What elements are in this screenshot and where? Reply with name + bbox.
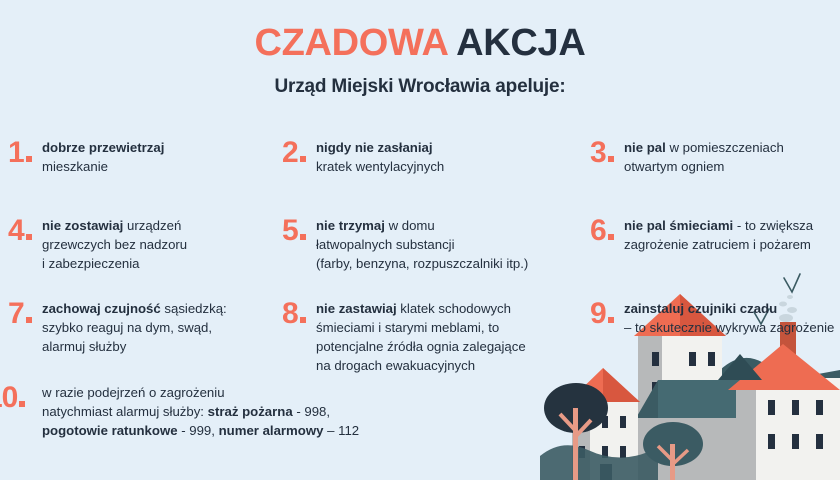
tip-line: pogotowie ratunkowe - 999, numer alarmow…	[42, 421, 359, 440]
tip-number-5: 5	[282, 216, 316, 246]
tip-plain: klatek schodowych	[397, 301, 511, 316]
tip-text-7: zachowaj czujność sąsiedzką:szybko reagu…	[42, 299, 227, 356]
tip-number-2: 2	[282, 138, 316, 168]
tip-item-7: 7 zachowaj czujność sąsiedzką:szybko rea…	[8, 299, 278, 356]
tree-shape	[643, 422, 703, 480]
tip-line: (farby, benzyna, rozpuszczalniki itp.)	[316, 254, 528, 273]
tip-line: szybko reaguj na dym, swąd,	[42, 318, 227, 337]
tip-line: natychmiast alarmuj służby: straż pożarn…	[42, 402, 359, 421]
tip-line: na drogach ewakuacyjnych	[316, 356, 526, 375]
tip-plain: natychmiast alarmuj służby:	[42, 404, 208, 419]
bird-icon	[784, 274, 800, 292]
tip-emphasis: nie zastawiaj	[316, 301, 397, 316]
title-rest-word: AKCJA	[447, 22, 585, 64]
house-shape	[636, 380, 740, 480]
tip-plain: grzewczych bez nadzoru	[42, 237, 187, 252]
tip-plain: kratek wentylacyjnych	[316, 159, 444, 174]
tip-item-8: 8 nie zastawiaj klatek schodowychśmiecia…	[282, 299, 582, 376]
tip-plain: urządzeń	[123, 218, 181, 233]
tip-plain: - 998,	[293, 404, 330, 419]
tip-text-10: w razie podejrzeń o zagrożeniunatychmias…	[42, 383, 359, 440]
tip-plain: – to skutecznie wykrywa zagrożenie	[624, 320, 834, 335]
tip-line: łatwopalnych substancji	[316, 235, 528, 254]
tip-line: w razie podejrzeń o zagrożeniu	[42, 383, 359, 402]
tip-text-9: zainstaluj czujniki czadu– to skutecznie…	[624, 299, 834, 337]
tip-emphasis: dobrze przewietrzaj	[42, 140, 164, 155]
poster-header: CZADOWA AKCJA Urząd Miejski Wrocławia ap…	[0, 0, 840, 98]
tip-line: otwartym ogniem	[624, 157, 784, 176]
tip-plain: zagrożenie zatruciem i pożarem	[624, 237, 811, 252]
tip-plain: alarmuj służby	[42, 339, 126, 354]
tip-emphasis: nie pal śmieciami	[624, 218, 733, 233]
tip-emphasis: pogotowie ratunkowe	[42, 423, 178, 438]
tip-text-1: dobrze przewietrzajmieszkanie	[42, 138, 164, 176]
tip-number-dot	[26, 156, 32, 162]
page-title: CZADOWA AKCJA	[0, 0, 840, 64]
tip-line: nie pal w pomieszczeniach	[624, 138, 784, 157]
tip-line: zachowaj czujność sąsiedzką:	[42, 299, 227, 318]
tip-plain: w pomieszczeniach	[666, 140, 784, 155]
tip-plain: - 999,	[178, 423, 219, 438]
tip-emphasis: straż pożarna	[208, 404, 293, 419]
tip-plain: sąsiedzką:	[161, 301, 227, 316]
tip-text-5: nie trzymaj w domułatwopalnych substancj…	[316, 216, 528, 273]
tip-line: kratek wentylacyjnych	[316, 157, 444, 176]
house-shape	[728, 322, 840, 480]
tip-emphasis: nie trzymaj	[316, 218, 385, 233]
tip-item-4: 4 nie zostawiaj urządzeńgrzewczych bez n…	[8, 216, 278, 273]
tip-number-dot	[608, 317, 614, 323]
tip-number-4: 4	[8, 216, 42, 246]
tip-text-2: nigdy nie zasłaniajkratek wentylacyjnych	[316, 138, 444, 176]
tip-plain: – 112	[323, 423, 359, 438]
tree-shape	[544, 383, 608, 480]
tip-emphasis: nigdy nie zasłaniaj	[316, 140, 433, 155]
tip-text-8: nie zastawiaj klatek schodowychśmieciami…	[316, 299, 526, 376]
tip-text-4: nie zostawiaj urządzeńgrzewczych bez nad…	[42, 216, 187, 273]
tip-emphasis: nie zostawiaj	[42, 218, 123, 233]
tip-line: zainstaluj czujniki czadu	[624, 299, 834, 318]
tip-number-dot	[19, 401, 25, 407]
hill-shape	[540, 445, 658, 480]
tip-item-1: 1 dobrze przewietrzajmieszkanie	[8, 138, 278, 176]
tip-number-dot	[26, 317, 32, 323]
tip-plain: łatwopalnych substancji	[316, 237, 455, 252]
tip-item-2: 2 nigdy nie zasłaniajkratek wentylacyjny…	[282, 138, 582, 176]
house-shape	[568, 368, 640, 480]
tip-text-6: nie pal śmieciami - to zwiększazagrożeni…	[624, 216, 813, 254]
tip-emphasis: zainstaluj czujniki czadu	[624, 301, 777, 316]
tip-number-dot	[300, 234, 306, 240]
tip-plain: szybko reaguj na dym, swąd,	[42, 320, 212, 335]
tip-number-9: 9	[590, 299, 624, 329]
tip-plain: w razie podejrzeń o zagrożeniu	[42, 385, 225, 400]
infographic-poster: CZADOWA AKCJA Urząd Miejski Wrocławia ap…	[0, 0, 840, 480]
tip-plain: potencjalne źródła ognia zalegające	[316, 339, 526, 354]
tip-item-5: 5 nie trzymaj w domułatwopalnych substan…	[282, 216, 582, 273]
tip-plain: otwartym ogniem	[624, 159, 724, 174]
tip-line: grzewczych bez nadzoru	[42, 235, 187, 254]
tip-line: nie trzymaj w domu	[316, 216, 528, 235]
tip-number-8: 8	[282, 299, 316, 329]
tip-item-6: 6 nie pal śmieciami - to zwiększazagroże…	[590, 216, 840, 254]
tip-item-3: 3 nie pal w pomieszczeniachotwartym ogni…	[590, 138, 840, 176]
tip-plain: w domu	[385, 218, 435, 233]
tip-number-6: 6	[590, 216, 624, 246]
tip-number-1: 1	[8, 138, 42, 168]
bird-icon	[716, 455, 731, 469]
tip-plain: (farby, benzyna, rozpuszczalniki itp.)	[316, 256, 528, 271]
page-subtitle: Urząd Miejski Wrocławia apeluje:	[0, 64, 840, 98]
tip-number-dot	[26, 234, 32, 240]
tip-line: alarmuj służby	[42, 337, 227, 356]
tip-emphasis: zachowaj czujność	[42, 301, 161, 316]
tip-number-dot	[608, 234, 614, 240]
tip-line: nie pal śmieciami - to zwiększa	[624, 216, 813, 235]
tip-item-10: 10 w razie podejrzeń o zagrożeniunatychm…	[0, 383, 416, 440]
tip-number-dot	[608, 156, 614, 162]
tip-text-3: nie pal w pomieszczeniachotwartym ogniem	[624, 138, 784, 176]
tip-number-7: 7	[8, 299, 42, 329]
tip-plain: na drogach ewakuacyjnych	[316, 358, 475, 373]
town-illustration	[540, 260, 840, 480]
house-shape	[718, 354, 762, 380]
tip-line: nie zastawiaj klatek schodowych	[316, 299, 526, 318]
tip-line: dobrze przewietrzaj	[42, 138, 164, 157]
title-accent-word: CZADOWA	[254, 22, 447, 64]
tip-number-10: 10	[0, 383, 42, 413]
tip-plain: mieszkanie	[42, 159, 108, 174]
tip-line: i zabezpieczenia	[42, 254, 187, 273]
tip-number-dot	[300, 156, 306, 162]
tip-plain: śmieciami i starymi meblami, to	[316, 320, 499, 335]
tip-line: śmieciami i starymi meblami, to	[316, 318, 526, 337]
tip-line: mieszkanie	[42, 157, 164, 176]
tip-line: – to skutecznie wykrywa zagrożenie	[624, 318, 834, 337]
tip-plain: - to zwiększa	[733, 218, 813, 233]
tip-emphasis: nie pal	[624, 140, 666, 155]
tip-line: zagrożenie zatruciem i pożarem	[624, 235, 813, 254]
tip-item-9: 9 zainstaluj czujniki czadu– to skuteczn…	[590, 299, 840, 337]
tip-number-3: 3	[590, 138, 624, 168]
tip-plain: i zabezpieczenia	[42, 256, 140, 271]
hill-shape	[720, 358, 840, 480]
tip-number-dot	[300, 317, 306, 323]
tip-line: potencjalne źródła ognia zalegające	[316, 337, 526, 356]
tip-emphasis: numer alarmowy	[219, 423, 324, 438]
tip-line: nigdy nie zasłaniaj	[316, 138, 444, 157]
tip-line: nie zostawiaj urządzeń	[42, 216, 187, 235]
